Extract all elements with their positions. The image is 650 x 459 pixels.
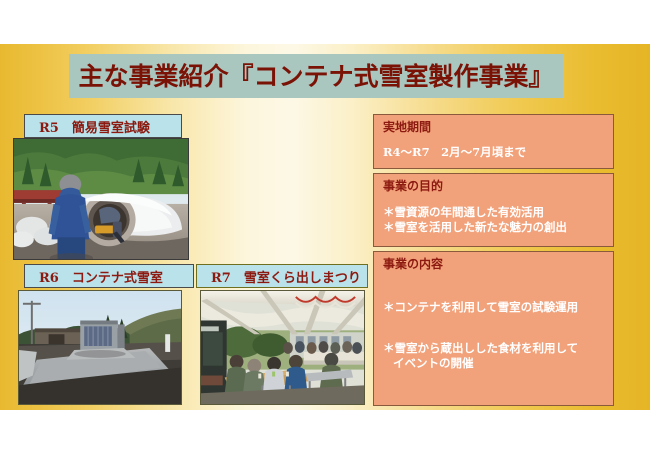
- caption-chip-r6: R6 コンテナ式雪室: [24, 264, 194, 288]
- caption-chip-r7: R7 雪室くら出しまつり: [196, 264, 368, 288]
- panel-purpose-heading: 事業の目的: [383, 179, 604, 194]
- panel-content-item-1-line1: ＊コンテナを利用して雪室の試験運用: [383, 300, 578, 314]
- caption-label-r7: R7 雪室くら出しまつり: [211, 267, 361, 286]
- panel-content-item-2: ＊雪室から蔵出しした食材を利用して イベントの開催: [383, 326, 604, 386]
- panel-content-item-3: ＊雪室食材として、付加価値の付いた ブランド品の販売: [383, 397, 604, 457]
- panel-purpose: 事業の目的 ＊雪資源の年間通した有効活用 ＊雪室を活用した新たな魅力の創出: [373, 173, 614, 247]
- panel-content-item-2-line1: ＊雪室から蔵出しした食材を利用して: [383, 341, 578, 355]
- photo-r6-container-snow-room: [18, 290, 182, 405]
- slide-root: 主な事業紹介『コンテナ式雪室製作事業』 R5 簡易雪室試験 R6 コンテナ式雪室…: [0, 0, 650, 459]
- photo-r7-graphic: [201, 291, 364, 404]
- caption-label-r6: R6 コンテナ式雪室: [39, 267, 163, 286]
- page-title: 主な事業紹介『コンテナ式雪室製作事業』: [69, 54, 563, 98]
- panel-purpose-body: ＊雪資源の年間通した有効活用 ＊雪室を活用した新たな魅力の創出: [383, 205, 604, 235]
- panel-period-heading: 実地期間: [383, 120, 604, 135]
- page-title-text: 主な事業紹介『コンテナ式雪室製作事業』: [78, 64, 553, 89]
- panel-content: 事業の内容 ＊コンテナを利用して雪室の試験運用 ＊雪室から蔵出しした食材を利用し…: [373, 251, 614, 406]
- caption-label-r5: R5 簡易雪室試験: [39, 117, 150, 136]
- caption-chip-r5: R5 簡易雪室試験: [24, 114, 182, 138]
- photo-r5-simple-snow-room-test: [13, 138, 189, 260]
- panel-content-item-3-line2: ブランド品の販売: [383, 427, 604, 442]
- panel-content-heading: 事業の内容: [383, 257, 604, 272]
- panel-content-item-1: ＊コンテナを利用して雪室の試験運用: [383, 285, 604, 315]
- panel-content-item-3-line1: ＊雪室食材として、付加価値の付いた: [383, 412, 578, 426]
- photo-r6-graphic: [19, 291, 181, 404]
- panel-period-body: R4～R7 2月～7月頃まで: [383, 145, 604, 160]
- photo-r7-snow-room-festival: [200, 290, 365, 405]
- photo-r5-graphic: [14, 139, 188, 259]
- panel-content-item-2-line2: イベントの開催: [383, 356, 604, 371]
- panel-period: 実地期間 R4～R7 2月～7月頃まで: [373, 114, 614, 169]
